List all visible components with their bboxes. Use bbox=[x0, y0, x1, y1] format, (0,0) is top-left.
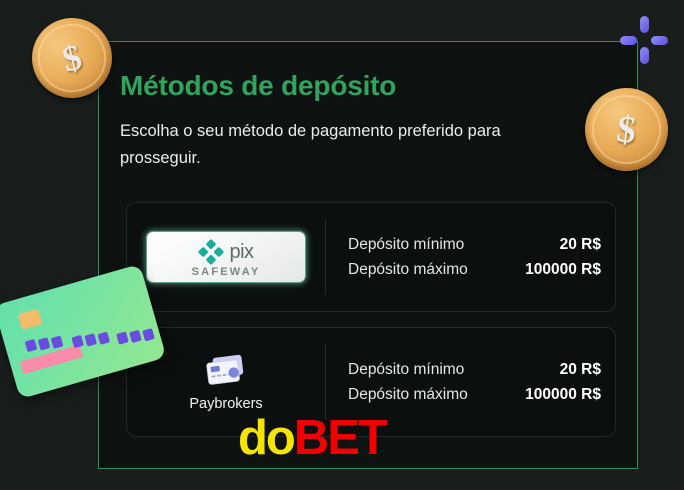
pix-logo-row: pix bbox=[198, 239, 253, 265]
pix-diamond-icon bbox=[198, 239, 224, 265]
card-digit-block bbox=[25, 339, 38, 352]
method-name-paybrokers: Paybrokers bbox=[189, 396, 262, 412]
card-digit-block bbox=[97, 332, 110, 345]
page-title: Métodos de depósito bbox=[120, 70, 580, 102]
card-digit-block bbox=[51, 336, 64, 349]
max-deposit-value: 100000 R$ bbox=[525, 257, 601, 282]
min-deposit-label: Depósito mínimo bbox=[348, 232, 464, 257]
dobet-logo-do: do bbox=[238, 411, 294, 465]
min-deposit-value: 20 R$ bbox=[560, 357, 601, 382]
max-deposit-line: Depósito máximo 100000 R$ bbox=[348, 257, 601, 282]
deposit-methods-screen: Métodos de depósito Escolha o seu método… bbox=[0, 0, 684, 490]
pix-wordmark: pix bbox=[229, 242, 253, 262]
method-logo-cell: pix SAFEWAY bbox=[127, 203, 325, 311]
sparkle-arm-bottom bbox=[640, 47, 649, 64]
card-digit-block bbox=[84, 333, 97, 346]
sparkle-arm-left bbox=[620, 36, 637, 45]
min-deposit-value: 20 R$ bbox=[560, 232, 601, 257]
coin-icon-right: $ bbox=[580, 83, 672, 175]
card-digit-block bbox=[116, 331, 129, 344]
coin-dollar-sign: $ bbox=[580, 83, 672, 175]
cards-icon bbox=[203, 353, 250, 389]
sparkle-arm-top bbox=[640, 16, 649, 33]
card-digit-block bbox=[142, 328, 155, 341]
min-deposit-label: Depósito mínimo bbox=[348, 357, 464, 382]
dobet-logo-bet: BET bbox=[294, 411, 386, 465]
pix-safeway-tagline: SAFEWAY bbox=[192, 267, 261, 278]
method-limits: Depósito mínimo 20 R$ Depósito máximo 10… bbox=[326, 232, 615, 282]
method-limits: Depósito mínimo 20 R$ Depósito máximo 10… bbox=[326, 357, 615, 407]
plus-sparkle-icon bbox=[620, 16, 668, 64]
card-digit-block bbox=[71, 335, 84, 348]
card-chip bbox=[18, 309, 43, 330]
sparkle-arm-right bbox=[651, 36, 668, 45]
card-digit-block bbox=[129, 330, 142, 343]
max-deposit-value: 100000 R$ bbox=[525, 382, 601, 407]
max-deposit-line: Depósito máximo 100000 R$ bbox=[348, 382, 601, 407]
min-deposit-line: Depósito mínimo 20 R$ bbox=[348, 232, 601, 257]
pix-safeway-logo: pix SAFEWAY bbox=[147, 232, 305, 282]
page-subtitle: Escolha o seu método de pagamento prefer… bbox=[120, 118, 572, 172]
min-deposit-line: Depósito mínimo 20 R$ bbox=[348, 357, 601, 382]
payment-method-pix-safeway[interactable]: pix SAFEWAY Depósito mínimo 20 R$ Depósi… bbox=[126, 202, 616, 312]
max-deposit-label: Depósito máximo bbox=[348, 257, 468, 282]
card-digit-block bbox=[38, 337, 51, 350]
max-deposit-label: Depósito máximo bbox=[348, 382, 468, 407]
dobet-logo: doBET bbox=[238, 414, 386, 463]
